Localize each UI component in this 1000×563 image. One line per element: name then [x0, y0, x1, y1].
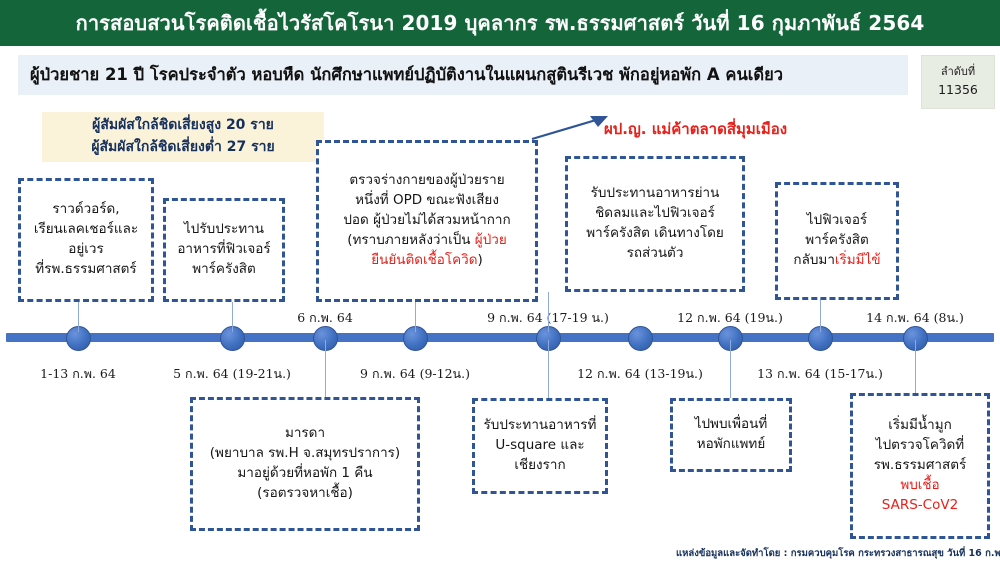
event-text-line: ไปตรวจโควิดที่ [876, 436, 964, 456]
text-fragment-highlight: เริ่มมีไข้ [835, 252, 881, 268]
event-box-usquare-meal: รับประทานอาหารที่U-square และเชียงราก [472, 398, 608, 494]
text-fragment: (ทราบภายหลังว่าเป็น [347, 232, 475, 248]
sequence-number: 11356 [938, 81, 978, 100]
text-fragment: (รอตรวจหาเชื้อ) [257, 485, 353, 501]
text-fragment: เริ่มมีน้ำมูก [888, 417, 952, 433]
timeline-connector-9 [915, 340, 916, 393]
text-fragment: รับประทานอาหารที่ [484, 417, 597, 433]
text-fragment: ปอด ผู้ป่วยไม่ได้สวมหน้ากาก [343, 212, 510, 228]
text-fragment: พาร์ครังสิต [805, 232, 869, 248]
event-box-covid-test: เริ่มมีน้ำมูกไปตรวจโควิดที่รพ.ธรรมศาสตร์… [850, 393, 990, 539]
event-text-line: (พยาบาล รพ.H จ.สมุทรปราการ) [210, 444, 400, 464]
event-text-line: ปอด ผู้ป่วยไม่ได้สวมหน้ากาก [343, 211, 510, 231]
event-text-line: มารดา [285, 424, 325, 444]
timeline-connector-3 [415, 302, 416, 332]
event-text-line: หอพักแพทย์ [697, 435, 766, 455]
event-text-line: (รอตรวจหาเชื้อ) [257, 484, 353, 504]
high-risk-contacts: ผู้สัมผัสใกล้ชิดเสี่ยงสูง 20 ราย [92, 115, 274, 137]
text-fragment: เชียงราก [514, 457, 565, 473]
event-text-line: ราวด์วอร์ด, [52, 200, 119, 220]
text-fragment: หอพักแพทย์ [697, 436, 766, 452]
sequence-label: ลำดับที่ [941, 64, 975, 81]
text-fragment: หนึ่งที่ OPD ขณะฟังเสียง [355, 192, 499, 208]
event-text-line: ยืนยันติดเชื้อโควิด) [371, 251, 483, 271]
timeline-connector-7 [548, 340, 549, 398]
timeline-date-7: 12 ก.พ. 64 (19น.) [677, 308, 783, 328]
event-box-future-park-meal: ไปรับประทานอาหารที่ฟิวเจอร์พาร์ครังสิต [163, 198, 285, 302]
timeline-connector-8 [730, 340, 731, 398]
timeline-connector-1 [78, 302, 79, 332]
timeline-date-4: 9 ก.พ. 64 (9-12น.) [360, 364, 470, 384]
event-text-line: หนึ่งที่ OPD ขณะฟังเสียง [355, 191, 499, 211]
timeline-date-1: 1-13 ก.พ. 64 [40, 364, 116, 384]
timeline-date-3: 6 ก.พ. 64 [297, 308, 353, 328]
callout-arrow-icon [530, 112, 610, 142]
timeline-connector-6 [325, 340, 326, 397]
text-fragment: เรียนเลคเชอร์และ [34, 221, 138, 237]
text-fragment: U-square และ [495, 437, 584, 453]
event-text-line: ชิดลมและไปฟิวเจอร์ [595, 204, 715, 224]
sequence-box: ลำดับที่ 11356 [921, 55, 995, 109]
timeline-date-6: 12 ก.พ. 64 (13-19น.) [577, 364, 703, 384]
text-fragment: (พยาบาล รพ.H จ.สมุทรปราการ) [210, 445, 400, 461]
timeline-date-2: 5 ก.พ. 64 (19-21น.) [173, 364, 291, 384]
event-text-line: เชียงราก [514, 456, 565, 476]
patient-info-band: ผู้ป่วยชาย 21 ปี โรคประจำตัว หอบหืด นักศ… [18, 55, 908, 95]
event-text-line: พบเชื้อ [900, 476, 939, 496]
text-fragment: มาอยู่ด้วยที่หอพัก 1 คืน [237, 465, 372, 481]
event-text-line: (ทราบภายหลังว่าเป็น ผู้ป่วย [347, 231, 507, 251]
infographic-root: การสอบสวนโรคติดเชื้อไวรัสโคโรนา 2019 บุค… [0, 0, 1000, 563]
page-title: การสอบสวนโรคติดเชื้อไวรัสโคโรนา 2019 บุค… [0, 0, 1000, 46]
event-text-line: รพ.ธรรมศาสตร์ [874, 456, 967, 476]
event-text-line: U-square และ [495, 436, 584, 456]
text-fragment: รับประทานอาหารย่าน [591, 185, 720, 201]
text-fragment: ไปตรวจโควิดที่ [876, 437, 964, 453]
text-fragment: ) [478, 252, 483, 268]
event-text-line: รถส่วนตัว [627, 244, 684, 264]
contacts-summary-box: ผู้สัมผัสใกล้ชิดเสี่ยงสูง 20 ราย ผู้สัมผ… [42, 112, 324, 162]
text-fragment: อาหารที่ฟิวเจอร์ [177, 241, 270, 257]
event-box-mother-visit: มารดา(พยาบาล รพ.H จ.สมุทรปราการ)มาอยู่ด้… [190, 397, 420, 531]
event-text-line: กลับมาเริ่มมีไข้ [793, 251, 880, 271]
event-text-line: รับประทานอาหารย่าน [591, 184, 720, 204]
event-box-opd-exam: ตรวจร่างกายของผู้ป่วยรายหนึ่งที่ OPD ขณะ… [316, 140, 538, 302]
timeline-connector-5 [820, 300, 821, 332]
text-fragment-highlight: SARS-CoV2 [882, 497, 958, 513]
text-fragment: ชิดลมและไปฟิวเจอร์ [595, 205, 715, 221]
footer-source: แหล่งข้อมูลและจัดทำโดย : กรมควบคุมโรค กร… [676, 546, 1000, 561]
event-box-fever-onset: ไปฟิวเจอร์พาร์ครังสิตกลับมาเริ่มมีไข้ [775, 182, 899, 300]
timeline-axis [6, 333, 994, 342]
callout-text: ผป.ญ. แม่ค้าตลาดสี่มุมเมือง [604, 117, 787, 141]
text-fragment: กลับมา [793, 252, 835, 268]
text-fragment-highlight: พบเชื้อ [900, 477, 939, 493]
event-text-line: อยู่เวร [68, 240, 103, 260]
event-box-chidlom-meal: รับประทานอาหารย่านชิดลมและไปฟิวเจอร์พาร์… [565, 156, 745, 292]
event-text-line: ที่รพ.ธรรมศาสตร์ [35, 260, 136, 280]
event-text-line: ตรวจร่างกายของผู้ป่วยราย [349, 171, 504, 191]
text-fragment: พาร์ครังสิต เดินทางโดย [586, 225, 724, 241]
event-text-line: พาร์ครังสิต เดินทางโดย [586, 224, 724, 244]
timeline-node-6[interactable] [628, 326, 653, 351]
text-fragment: รพ.ธรรมศาสตร์ [874, 457, 967, 473]
text-fragment-highlight: ยืนยันติดเชื้อโควิด [371, 252, 477, 268]
event-box-ward-round: ราวด์วอร์ด,เรียนเลคเชอร์และอยู่เวรที่รพ.… [18, 178, 154, 302]
event-text-line: ไปฟิวเจอร์ [807, 211, 867, 231]
text-fragment: ที่รพ.ธรรมศาสตร์ [35, 261, 136, 277]
text-fragment: พาร์ครังสิต [192, 261, 256, 277]
timeline-date-9: 14 ก.พ. 64 (8น.) [866, 308, 964, 328]
text-fragment: ตรวจร่างกายของผู้ป่วยราย [349, 172, 504, 188]
event-text-line: รับประทานอาหารที่ [484, 416, 597, 436]
event-text-line: มาอยู่ด้วยที่หอพัก 1 คืน [237, 464, 372, 484]
text-fragment: ไปรับประทาน [184, 221, 264, 237]
event-box-friend-visit: ไปพบเพื่อนที่หอพักแพทย์ [670, 398, 792, 472]
event-text-line: ไปรับประทาน [184, 220, 264, 240]
text-fragment: อยู่เวร [68, 241, 103, 257]
event-text-line: SARS-CoV2 [882, 496, 958, 516]
event-text-line: เริ่มมีน้ำมูก [888, 416, 952, 436]
patient-info-text: ผู้ป่วยชาย 21 ปี โรคประจำตัว หอบหืด นักศ… [18, 62, 783, 88]
text-fragment: ไปพบเพื่อนที่ [695, 416, 768, 432]
timeline-connector-4 [548, 292, 549, 332]
event-text-line: อาหารที่ฟิวเจอร์ [177, 240, 270, 260]
text-fragment: ไปฟิวเจอร์ [807, 212, 867, 228]
text-fragment-highlight: ผู้ป่วย [475, 232, 507, 248]
timeline-date-8: 13 ก.พ. 64 (15-17น.) [757, 364, 883, 384]
event-text-line: พาร์ครังสิต [192, 260, 256, 280]
text-fragment: ราวด์วอร์ด, [52, 201, 119, 217]
text-fragment: รถส่วนตัว [627, 245, 684, 261]
timeline-connector-2 [232, 302, 233, 332]
low-risk-contacts: ผู้สัมผัสใกล้ชิดเสี่ยงต่ำ 27 ราย [91, 137, 274, 159]
event-text-line: เรียนเลคเชอร์และ [34, 220, 138, 240]
text-fragment: มารดา [285, 425, 325, 441]
event-text-line: ไปพบเพื่อนที่ [695, 415, 768, 435]
event-text-line: พาร์ครังสิต [805, 231, 869, 251]
